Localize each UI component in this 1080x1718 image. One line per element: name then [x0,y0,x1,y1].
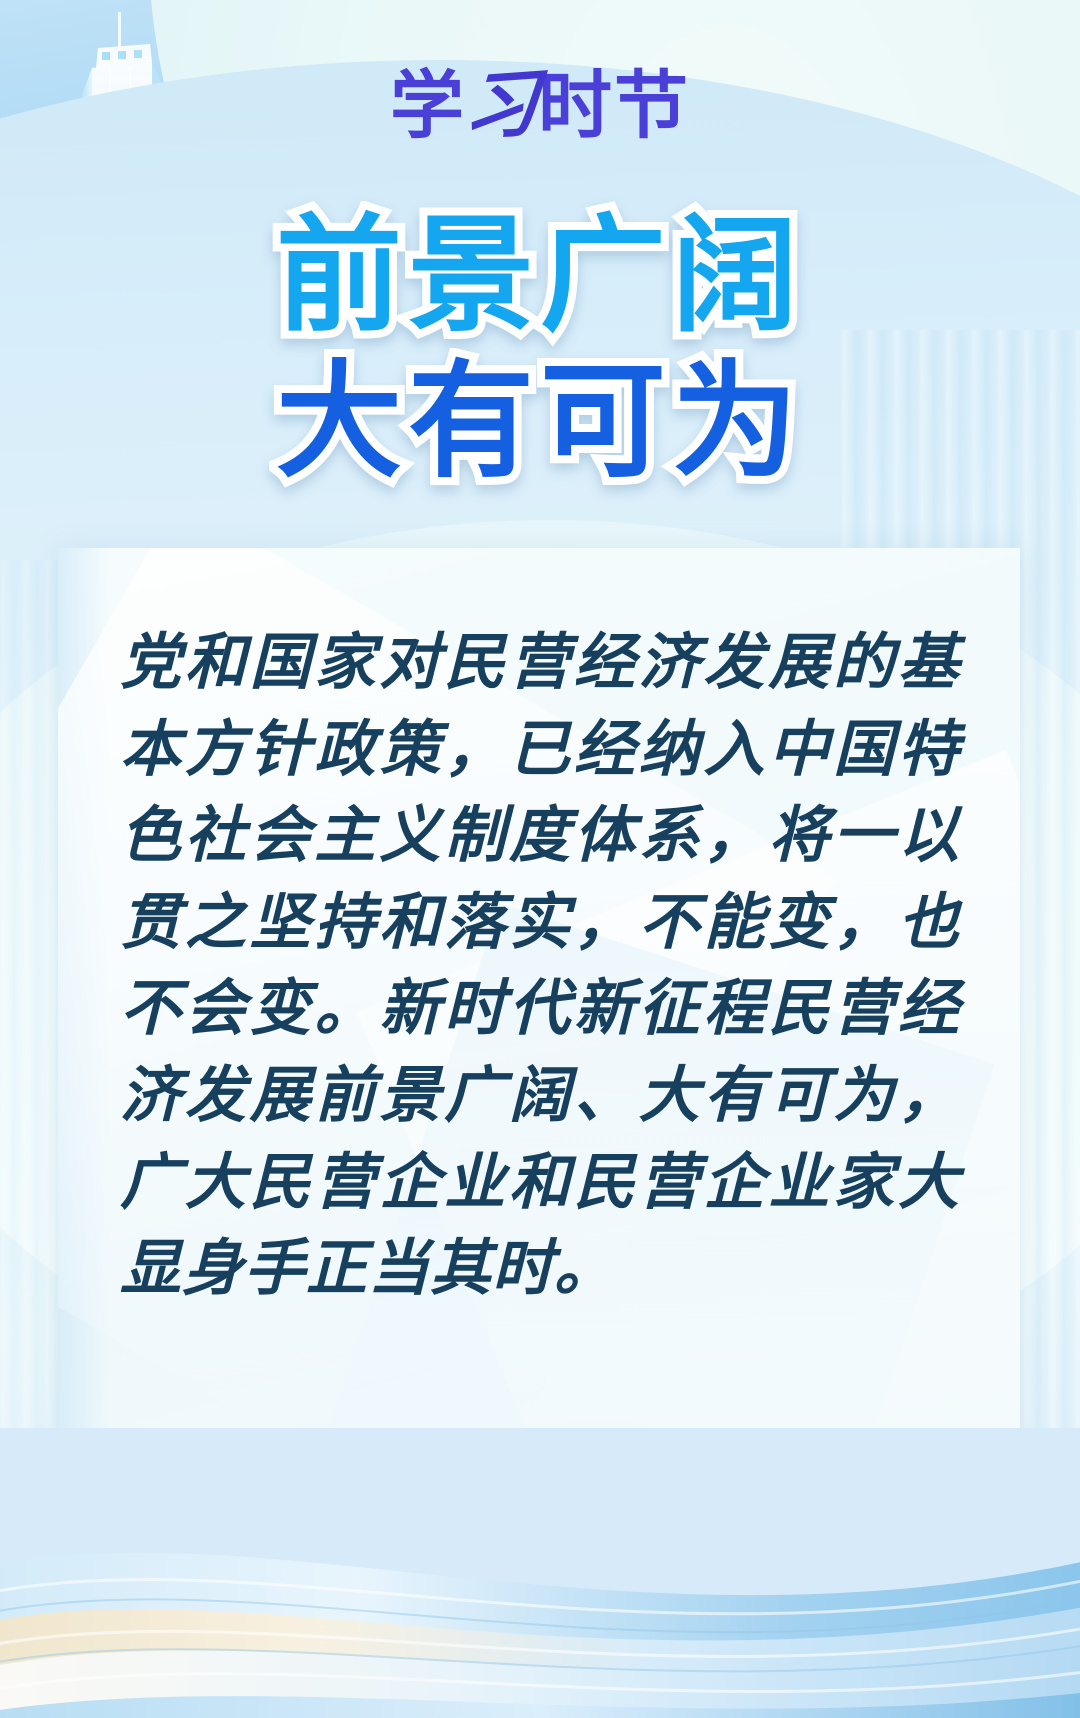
brand-logo: 学习时节 [0,52,1080,160]
quote-card: 党和国家对民营经济发展的基本方针政策，已经纳入中国特色社会主义制度体系，将一以贯… [58,548,1020,1648]
headline-line-1: 前景广阔 [0,208,1080,344]
brand-logo-char-cursive: 习 [461,66,543,145]
page-title: 前景广阔 大有可为 [0,208,1080,490]
brand-logo-text: 学习时节 [390,69,690,143]
brand-logo-char-1: 学 [390,63,466,149]
quote-attribution: ——2025年2月17日，习近平总书记在民营企业座谈会上的讲话 [120,1495,960,1534]
headline-line-2: 大有可为 [0,354,1080,490]
poster-canvas: 学习时节 前景广阔 大有可为 党和国家对民营经济发展的基本方针政策，已经纳入中国… [0,0,1080,1718]
brand-logo-char-rest: 时节 [538,63,690,149]
quote-text: 党和国家对民营经济发展的基本方针政策，已经纳入中国特色社会主义制度体系，将一以贯… [120,620,960,1313]
